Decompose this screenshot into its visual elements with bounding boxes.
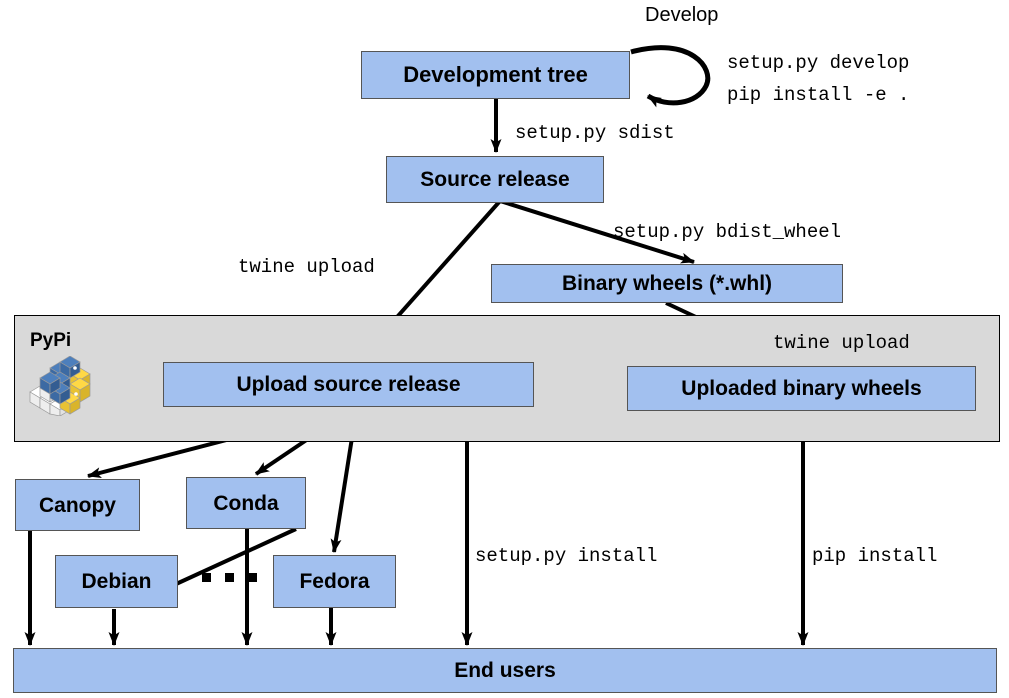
label-setup-py-bdist-wheel: setup.py bdist_wheel — [613, 221, 841, 244]
label-twine-upload-wheels: twine upload — [773, 332, 910, 355]
label-develop: Develop — [645, 4, 718, 27]
node-source-release[interactable]: Source release — [386, 156, 604, 203]
node-fedora[interactable]: Fedora — [273, 555, 396, 608]
label-develop-command-2: pip install -e . — [727, 84, 909, 107]
node-binary-wheels[interactable]: Binary wheels (*.whl) — [491, 264, 843, 303]
ellipsis-dots — [202, 573, 257, 582]
ellipsis-dot — [225, 573, 234, 582]
node-debian[interactable]: Debian — [55, 555, 178, 608]
label-setup-py-install: setup.py install — [475, 545, 657, 568]
node-upload-source-release[interactable]: Upload source release — [163, 362, 534, 407]
node-uploaded-binary-wheels[interactable]: Uploaded binary wheels — [627, 366, 976, 411]
diagram-canvas: PyPi — [0, 0, 1009, 698]
label-pip-install: pip install — [812, 545, 937, 568]
node-conda[interactable]: Conda — [186, 477, 306, 529]
node-canopy[interactable]: Canopy — [15, 479, 140, 531]
label-twine-upload-source: twine upload — [238, 256, 375, 279]
node-development-tree[interactable]: Development tree — [361, 51, 630, 99]
edge-develop-selfloop — [631, 48, 708, 103]
label-develop-command-1: setup.py develop — [727, 52, 909, 75]
ellipsis-dot — [202, 573, 211, 582]
node-end-users[interactable]: End users — [13, 648, 997, 693]
pypi-3d-cubes-logo — [26, 356, 92, 416]
label-setup-py-sdist: setup.py sdist — [515, 122, 675, 145]
pypi-region-label: PyPi — [30, 330, 71, 352]
ellipsis-dot — [248, 573, 257, 582]
